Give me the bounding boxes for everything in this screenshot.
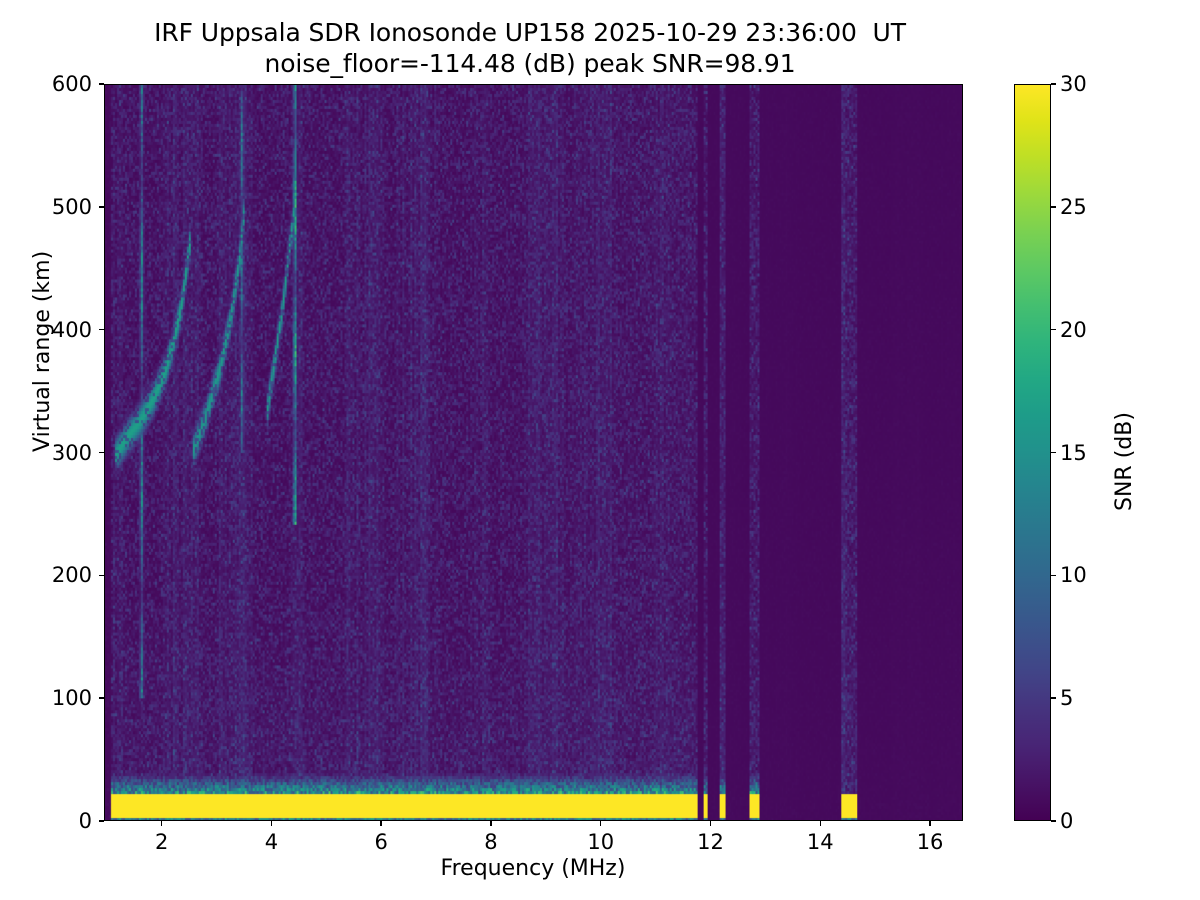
ionogram-plot-area <box>104 84 963 821</box>
colorbar <box>1014 84 1051 821</box>
x-tick-label: 2 <box>155 830 168 854</box>
x-tick-label: 8 <box>484 830 497 854</box>
y-tick-mark <box>99 206 104 208</box>
colorbar-tick-label: 15 <box>1060 441 1087 465</box>
x-tick-mark <box>490 821 492 826</box>
y-tick-mark <box>99 575 104 577</box>
figure-title: IRF Uppsala SDR Ionosonde UP158 2025-10-… <box>0 18 1060 79</box>
x-tick-label: 16 <box>917 830 944 854</box>
colorbar-tick-mark <box>1051 83 1056 85</box>
colorbar-label: SNR (dB) <box>1112 412 1137 511</box>
colorbar-tick-mark <box>1051 575 1056 577</box>
y-tick-label: 0 <box>30 809 92 833</box>
x-tick-mark <box>161 821 163 826</box>
colorbar-tick-mark <box>1051 820 1056 822</box>
colorbar-tick-label: 0 <box>1060 809 1073 833</box>
colorbar-tick-label: 30 <box>1060 72 1087 96</box>
x-tick-label: 10 <box>587 830 614 854</box>
y-tick-mark <box>99 329 104 331</box>
title-line-2: noise_floor=-114.48 (dB) peak SNR=98.91 <box>0 49 1060 80</box>
title-line-1: IRF Uppsala SDR Ionosonde UP158 2025-10-… <box>0 18 1060 49</box>
colorbar-tick-mark <box>1051 329 1056 331</box>
y-tick-mark <box>99 697 104 699</box>
ionogram-figure: IRF Uppsala SDR Ionosonde UP158 2025-10-… <box>0 0 1200 900</box>
x-tick-label: 12 <box>697 830 724 854</box>
x-tick-mark <box>929 821 931 826</box>
x-tick-mark <box>820 821 822 826</box>
x-tick-mark <box>600 821 602 826</box>
colorbar-tick-label: 5 <box>1060 686 1073 710</box>
colorbar-tick-label: 10 <box>1060 563 1087 587</box>
y-tick-label: 200 <box>30 563 92 587</box>
y-tick-mark <box>99 83 104 85</box>
x-tick-mark <box>271 821 273 826</box>
ionogram-heatmap <box>105 85 962 820</box>
colorbar-gradient <box>1015 85 1050 820</box>
y-axis-label: Virtual range (km) <box>30 251 55 452</box>
x-tick-label: 4 <box>265 830 278 854</box>
x-tick-mark <box>710 821 712 826</box>
y-tick-label: 100 <box>30 686 92 710</box>
colorbar-tick-mark <box>1051 206 1056 208</box>
y-tick-mark <box>99 820 104 822</box>
colorbar-tick-label: 25 <box>1060 195 1087 219</box>
y-tick-mark <box>99 452 104 454</box>
y-tick-label: 500 <box>30 195 92 219</box>
colorbar-tick-label: 20 <box>1060 318 1087 342</box>
x-tick-mark <box>380 821 382 826</box>
colorbar-tick-mark <box>1051 452 1056 454</box>
y-tick-label: 600 <box>30 72 92 96</box>
x-tick-label: 6 <box>374 830 387 854</box>
colorbar-tick-mark <box>1051 697 1056 699</box>
x-axis-label: Frequency (MHz) <box>441 856 626 881</box>
x-tick-label: 14 <box>807 830 834 854</box>
